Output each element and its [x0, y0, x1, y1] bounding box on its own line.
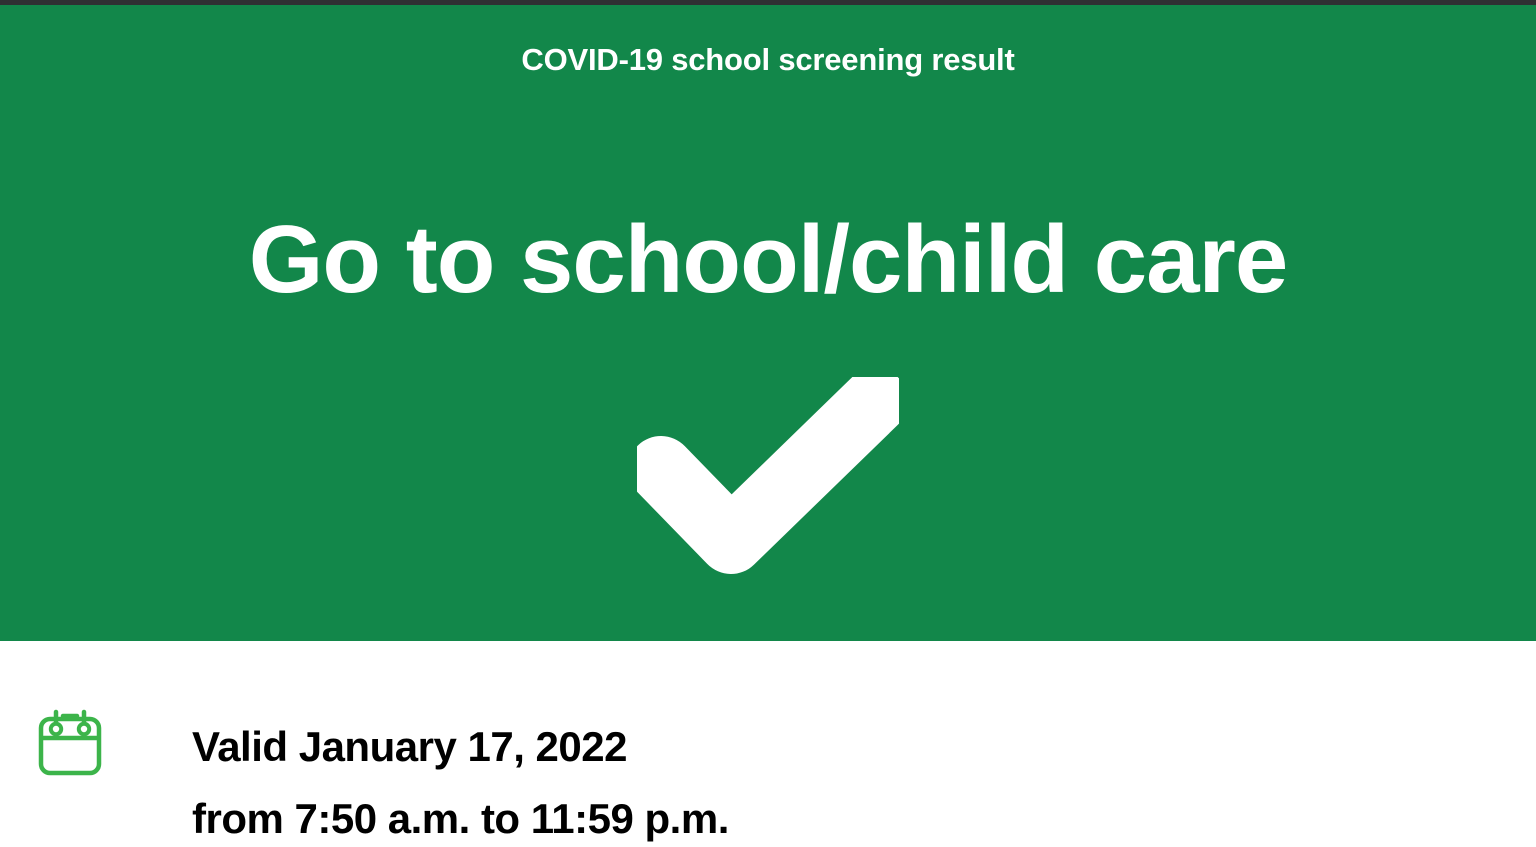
validity-date: Valid January 17, 2022	[192, 711, 729, 783]
validity-text-block: Valid January 17, 2022 from 7:50 a.m. to…	[192, 711, 729, 847]
validity-section: Valid January 17, 2022 from 7:50 a.m. to…	[0, 641, 1536, 847]
result-panel: COVID-19 school screening result Go to s…	[0, 5, 1536, 641]
calendar-icon	[30, 705, 110, 785]
page-title: COVID-19 school screening result	[0, 43, 1536, 77]
screening-result-screen: COVID-19 school screening result Go to s…	[0, 0, 1536, 847]
validity-time-range: from 7:50 a.m. to 11:59 p.m.	[192, 783, 729, 847]
checkmark-icon	[637, 377, 899, 577]
result-status-text: Go to school/child care	[0, 201, 1536, 318]
